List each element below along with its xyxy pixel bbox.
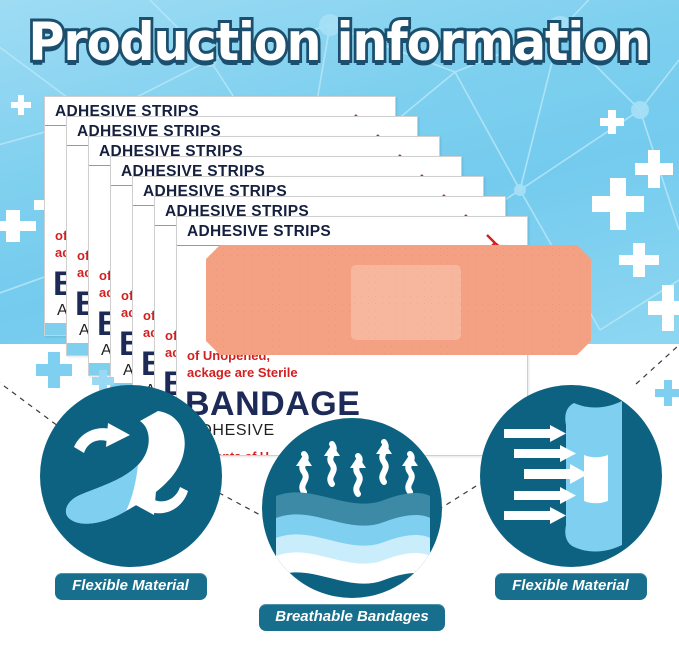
page-title: Production information — [0, 10, 679, 76]
feature-icon-circle — [480, 385, 662, 567]
package-top-line: ADHESIVE STRIPS — [187, 223, 331, 241]
feature-label: Breathable Bandages — [259, 604, 445, 631]
feature-icon-circle — [262, 418, 442, 598]
cross-icon — [36, 352, 72, 388]
feature-flexible-material-right[interactable]: Flexible Material — [468, 385, 673, 600]
page-title-text: Production information — [29, 15, 651, 71]
arrows-pressing-flexible-bandage-icon — [480, 385, 662, 567]
bandage-pad-texture — [351, 265, 461, 340]
cross-icon — [648, 285, 679, 331]
feature-breathable-bandages[interactable]: Breathable Bandages — [246, 418, 458, 631]
bandage-center-pad — [351, 265, 461, 340]
layered-wavy-fabric-with-vapor-arrows-icon — [262, 418, 442, 598]
twisted-bandage-with-rotation-arrows-icon — [40, 385, 222, 567]
cross-icon — [619, 243, 659, 277]
adhesive-bandage — [206, 245, 591, 355]
infographic-canvas: Production information ADHESIVE STRIPS o… — [0, 0, 679, 665]
feature-label: Flexible Material — [55, 573, 207, 600]
feature-icon-circle — [40, 385, 222, 567]
feature-label: Flexible Material — [495, 573, 647, 600]
feature-flexible-material-left[interactable]: Flexible Material — [28, 385, 233, 600]
